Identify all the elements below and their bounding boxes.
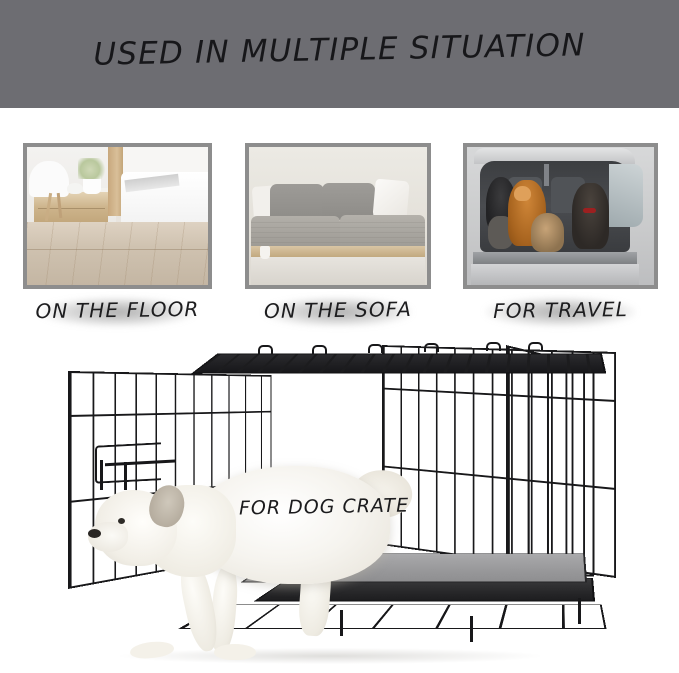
page-title: USED IN MULTIPLE SITUATION <box>0 25 679 74</box>
caption-text: ON THE SOFA <box>235 297 441 324</box>
crate-foot <box>578 598 581 624</box>
crate-roof-clip-icon <box>424 343 439 352</box>
dog-red-collar <box>583 208 596 214</box>
crate-roof-clip-icon <box>258 345 273 354</box>
header-band: USED IN MULTIPLE SITUATION <box>0 0 679 108</box>
floor-cup <box>260 246 271 258</box>
crate-bottom-frame <box>178 604 607 629</box>
thumbnail-for-travel <box>463 143 658 289</box>
caption-on-the-floor: ON THE FLOOR <box>10 295 225 333</box>
situation-thumbnail-row: ON THE FLOOR ON THE SOFA FOR TRAVEL <box>0 143 679 333</box>
crate-foot <box>470 616 473 642</box>
dog-chocolate-labrador <box>572 183 609 249</box>
crate-door-latch <box>95 442 161 483</box>
crate-side-panel <box>382 345 616 578</box>
crate-roof-panel <box>191 353 606 373</box>
hero-floor-shadow <box>120 648 540 664</box>
thumbnail-image-on-the-sofa <box>249 147 427 285</box>
dog-eye <box>118 518 125 524</box>
crate-foot <box>340 610 343 636</box>
dog-dachshund <box>531 213 565 252</box>
potted-plant <box>78 158 109 179</box>
chair <box>29 161 69 197</box>
wood-floor <box>27 222 208 285</box>
hero-label: FOR DOG CRATE <box>239 495 410 520</box>
crate-roof-clip-icon <box>368 344 383 353</box>
caption-text: FOR TRAVEL <box>455 297 666 324</box>
caption-on-the-sofa: ON THE SOFA <box>235 295 441 333</box>
sofa-wooden-base <box>251 246 425 257</box>
sofa-back-cushion-left <box>270 184 323 220</box>
golden-retriever-snout <box>514 186 531 201</box>
dog-nose <box>88 529 101 538</box>
sofa-floor-shadow <box>251 257 425 285</box>
car-trunk-sill <box>473 252 638 264</box>
crate-roof-clip-icon <box>528 342 543 351</box>
dog-paw-far <box>214 644 256 660</box>
thumbnail-on-the-floor <box>23 143 212 289</box>
crate-latch-rod-right <box>124 462 127 490</box>
crate-latch-rod-left <box>100 460 103 490</box>
floor-plank-joint <box>27 249 208 250</box>
decor-bowl <box>67 183 83 194</box>
sofa-fabric-texture <box>251 222 425 244</box>
car-side-window <box>609 164 643 227</box>
thumbnail-on-the-sofa <box>245 143 431 289</box>
crate-roof-clip-icon <box>486 342 501 351</box>
car-rear-bumper <box>471 264 639 285</box>
crate-roof-clip-icon <box>312 345 327 354</box>
thumbnail-image-for-travel <box>467 147 654 285</box>
caption-for-travel: FOR TRAVEL <box>455 295 666 333</box>
thumbnail-image-on-the-floor <box>27 147 208 285</box>
car-pillar <box>544 164 550 186</box>
caption-text: ON THE FLOOR <box>10 297 225 324</box>
